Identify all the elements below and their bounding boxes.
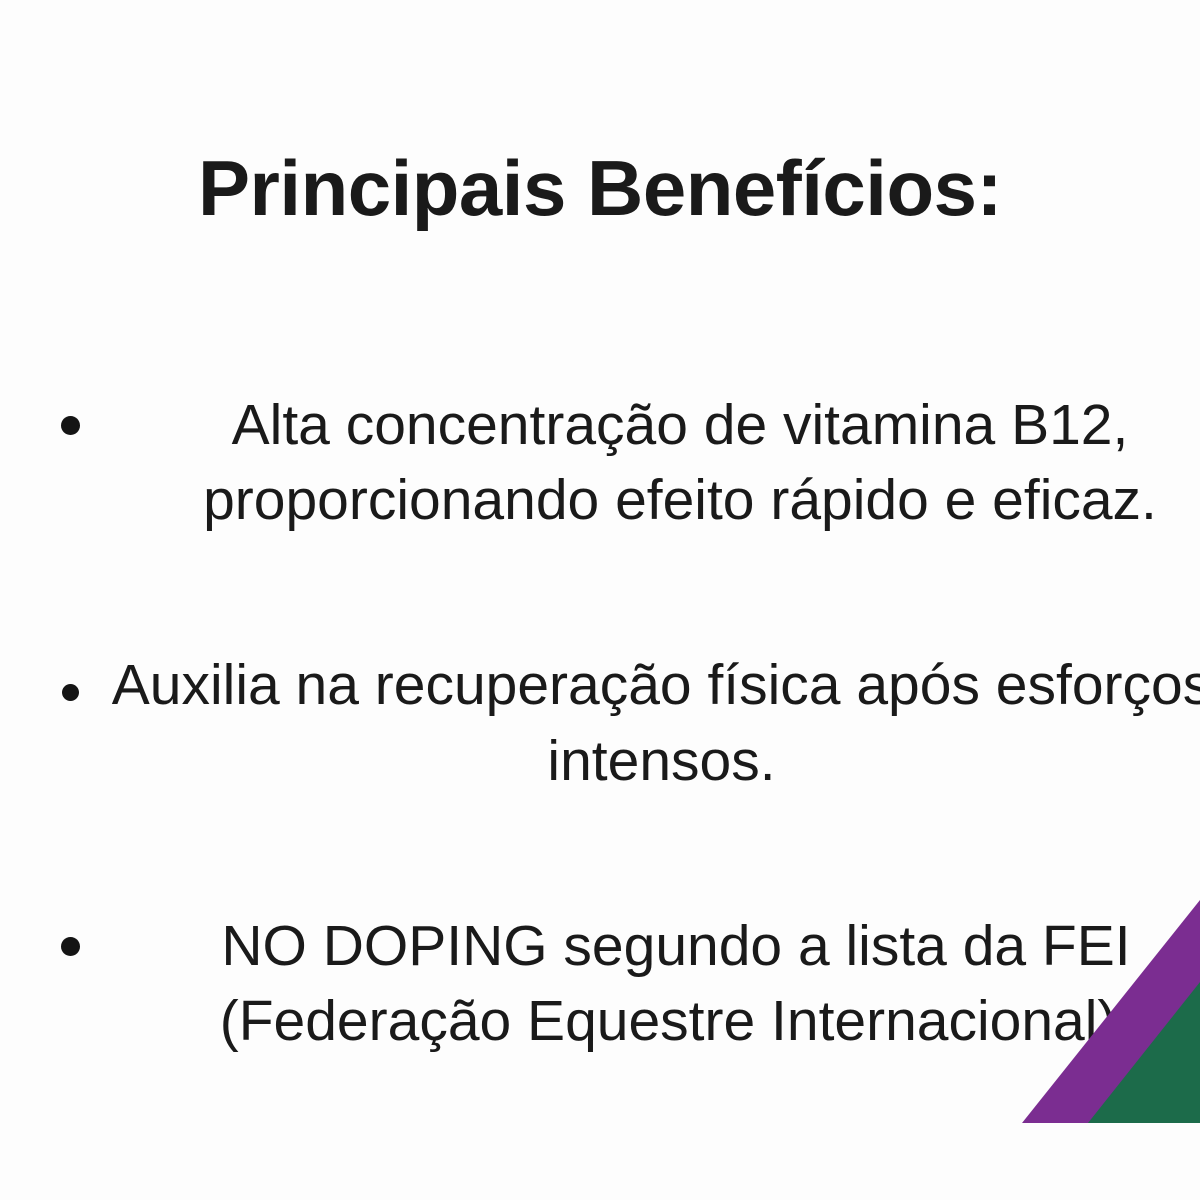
list-item-text-line-1: NO DOPING segundo a lista da FEI (176, 909, 1176, 984)
list-item-text-line-2: intensos. (104, 724, 1200, 799)
list-item: Alta concentração de vitamina B12, propo… (0, 388, 1200, 538)
bullet-circle-icon (61, 416, 80, 435)
page-title: Principais Benefícios: (0, 148, 1200, 230)
list-item-text: Alta concentração de vitamina B12, propo… (180, 388, 1180, 538)
list-item: NO DOPING segundo a lista da FEI (Federa… (0, 909, 1200, 1059)
bullet-circle-icon (62, 684, 79, 701)
list-item-text: Auxilia na recuperação física após esfor… (104, 648, 1200, 798)
list-item: Auxilia na recuperação física após esfor… (0, 648, 1200, 798)
benefits-list: Alta concentração de vitamina B12, propo… (0, 388, 1200, 1059)
slide-canvas: Principais Benefícios: Alta concentração… (0, 0, 1200, 1200)
list-item-text-line-1: Auxilia na recuperação física após esfor… (104, 648, 1200, 723)
list-item-text: NO DOPING segundo a lista da FEI (Federa… (176, 909, 1176, 1059)
bullet-circle-icon (61, 937, 80, 956)
list-item-text-line-2: (Federação Equestre Internacional). (176, 984, 1176, 1059)
